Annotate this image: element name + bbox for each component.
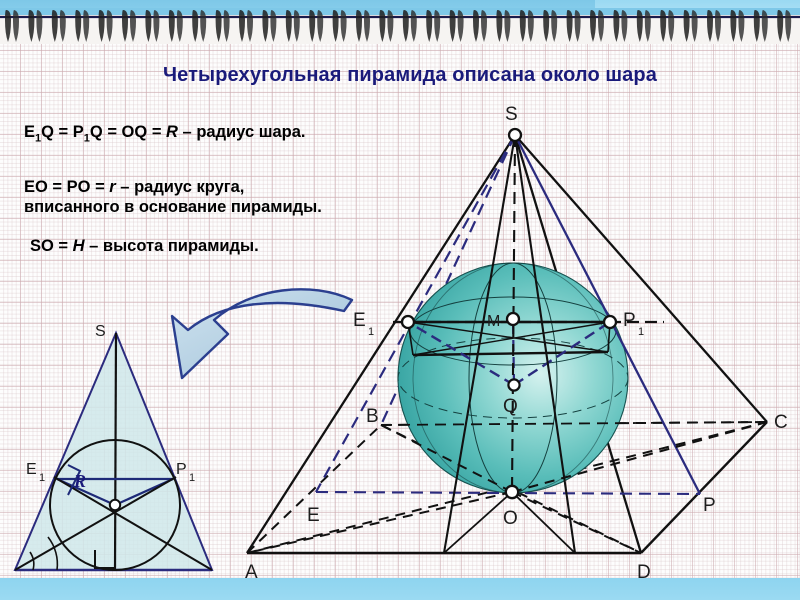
label-3d-C: C: [774, 412, 788, 433]
segment-O-to-BC-midpoint: [512, 492, 575, 553]
segment-OD: [512, 492, 641, 553]
label-3d-E1-sub: 1: [368, 326, 374, 338]
label-2d-tangent-right: P: [176, 461, 187, 478]
curved-arrow-to-cross-section: [172, 289, 352, 378]
figure-3d-pyramid: S A B C D E O P Q M E 1 P 1: [245, 104, 788, 583]
label-3d-M: M: [487, 313, 500, 330]
vertex-dot-M: [507, 313, 519, 325]
vertex-dot-Q: [508, 379, 519, 390]
altitude-SO: [115, 333, 116, 570]
label-3d-Q: Q: [503, 396, 518, 417]
label-3d-P: P: [703, 495, 716, 516]
label-3d-P1: P: [623, 310, 636, 331]
footer-band: [0, 578, 800, 600]
slide-canvas: Четырехугольная пирамида описана около ш…: [0, 0, 800, 600]
arrow-shape: [172, 289, 352, 378]
label-3d-E: E: [307, 505, 320, 526]
label-2d-radius-sphere: R: [73, 471, 86, 491]
label-3d-P1-sub: 1: [638, 326, 644, 338]
label-3d-O: O: [503, 508, 518, 529]
base-edge-DC: [641, 422, 767, 553]
label-2d-apex: S: [95, 323, 106, 340]
base-edge-AB: [247, 425, 381, 553]
vertex-dot-E1: [402, 316, 414, 328]
label-3d-E1: E: [353, 310, 366, 331]
vertex-dot-O: [506, 486, 518, 498]
label-3d-B: B: [366, 406, 379, 427]
label-2d-tangent-left-sub: 1: [39, 472, 45, 484]
vertex-dot-S: [509, 129, 521, 141]
vertex-dot-incentre: [110, 500, 120, 510]
geometry-figures: S E P O E 1 P 1 R r: [0, 0, 800, 600]
label-3d-apex: S: [505, 104, 518, 125]
label-2d-tangent-right-sub: 1: [189, 472, 195, 484]
vertex-dot-P1: [604, 316, 616, 328]
label-2d-tangent-left: E: [26, 461, 37, 478]
